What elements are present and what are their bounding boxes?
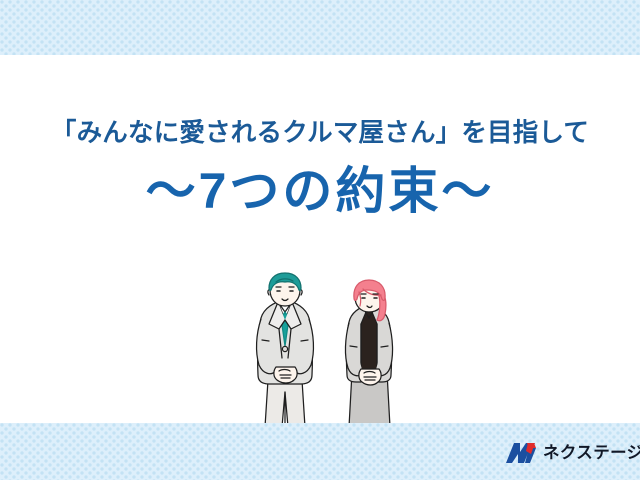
slide-canvas: 「みんなに愛されるクルマ屋さん」を目指して 〜7つの約束〜 bbox=[0, 0, 640, 480]
brand-logo: ネクステージ bbox=[505, 438, 640, 468]
headline-secondary-text: 〜7つの約束〜 bbox=[0, 163, 640, 221]
headline-block: 「みんなに愛されるクルマ屋さん」を目指して 〜7つの約束〜 bbox=[0, 118, 640, 220]
headline-primary-text: 「みんなに愛されるクルマ屋さん」を目指して bbox=[0, 118, 640, 149]
nextage-n-logo-icon bbox=[505, 442, 537, 464]
top-dot-band bbox=[0, 0, 640, 55]
female-staff-figure bbox=[345, 280, 392, 427]
brand-logo-text: ネクステージ bbox=[543, 445, 640, 462]
two-staff-bowing-illustration bbox=[238, 272, 428, 427]
male-staff-figure bbox=[257, 273, 314, 427]
